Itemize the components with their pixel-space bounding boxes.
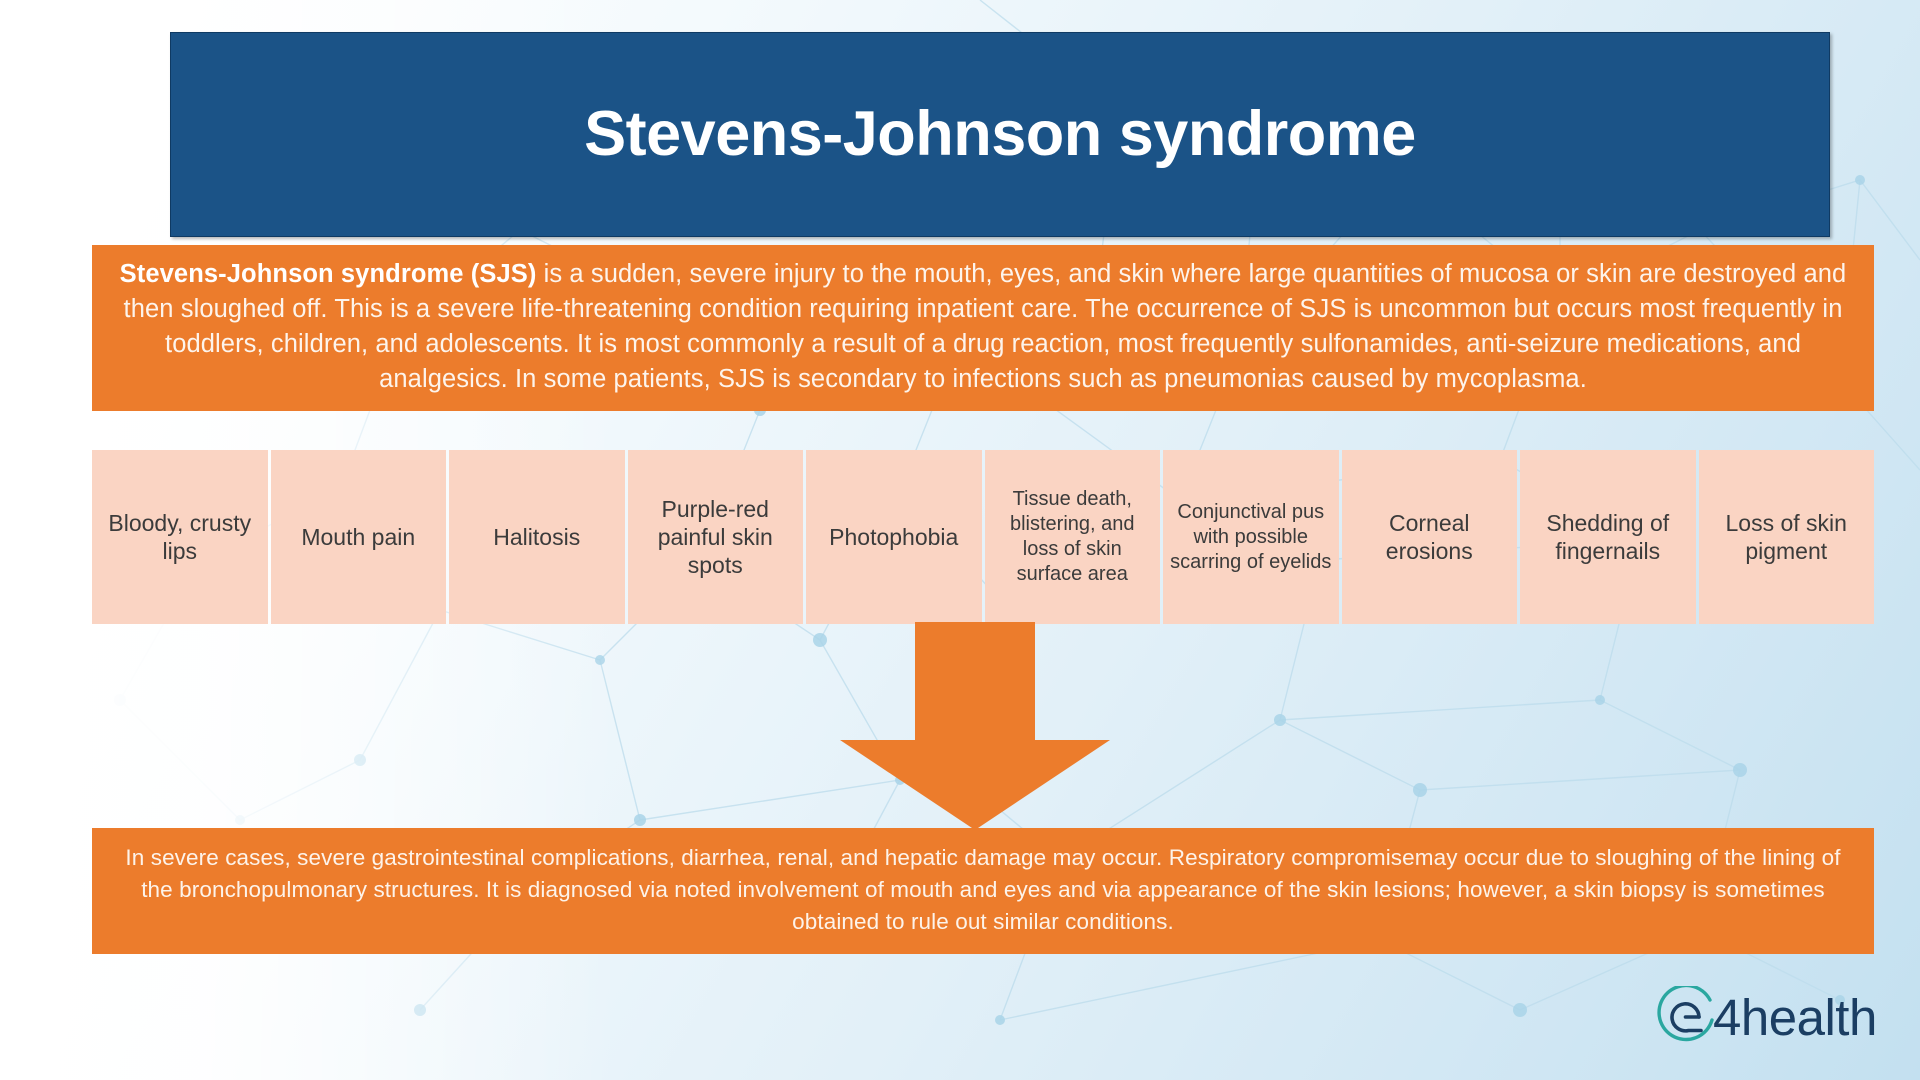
arrow-shaft [915,622,1035,742]
page-title: Stevens-Johnson syndrome [584,101,1416,167]
symptom-cell: Shedding of fingernails [1520,450,1696,624]
symptom-cell: Loss of skin pigment [1699,450,1875,624]
symptom-cell: Conjunctival pus with possible scarring … [1163,450,1339,624]
logo-e-icon [1655,986,1717,1048]
slide-canvas: Stevens-Johnson syndrome Stevens-Johnson… [0,0,1920,1080]
description-lead: Stevens-Johnson syndrome (SJS) [120,260,537,288]
arrow-head [840,740,1110,830]
symptom-cell: Photophobia [806,450,982,624]
symptom-cell: Purple-red painful skin spots [628,450,804,624]
description-text: Stevens-Johnson syndrome (SJS) is a sudd… [118,257,1848,397]
symptom-cell: Bloody, crusty lips [92,450,268,624]
logo-wordmark: 4health [1713,992,1877,1043]
down-arrow-icon [840,622,1110,830]
outcome-band: In severe cases, severe gastrointestinal… [92,828,1874,954]
logo-four: 4 [1713,989,1741,1046]
symptom-row: Bloody, crusty lips Mouth pain Halitosis… [92,450,1874,624]
logo-health: health [1741,989,1877,1046]
symptom-cell: Mouth pain [271,450,447,624]
symptom-cell: Tissue death, blistering, and loss of sk… [985,450,1161,624]
e4health-logo: 4health [1655,982,1877,1052]
symptom-cell: Corneal erosions [1342,450,1518,624]
title-bar: Stevens-Johnson syndrome [170,32,1830,237]
description-band: Stevens-Johnson syndrome (SJS) is a sudd… [92,245,1874,411]
symptom-cell: Halitosis [449,450,625,624]
outcome-text: In severe cases, severe gastrointestinal… [120,842,1846,938]
